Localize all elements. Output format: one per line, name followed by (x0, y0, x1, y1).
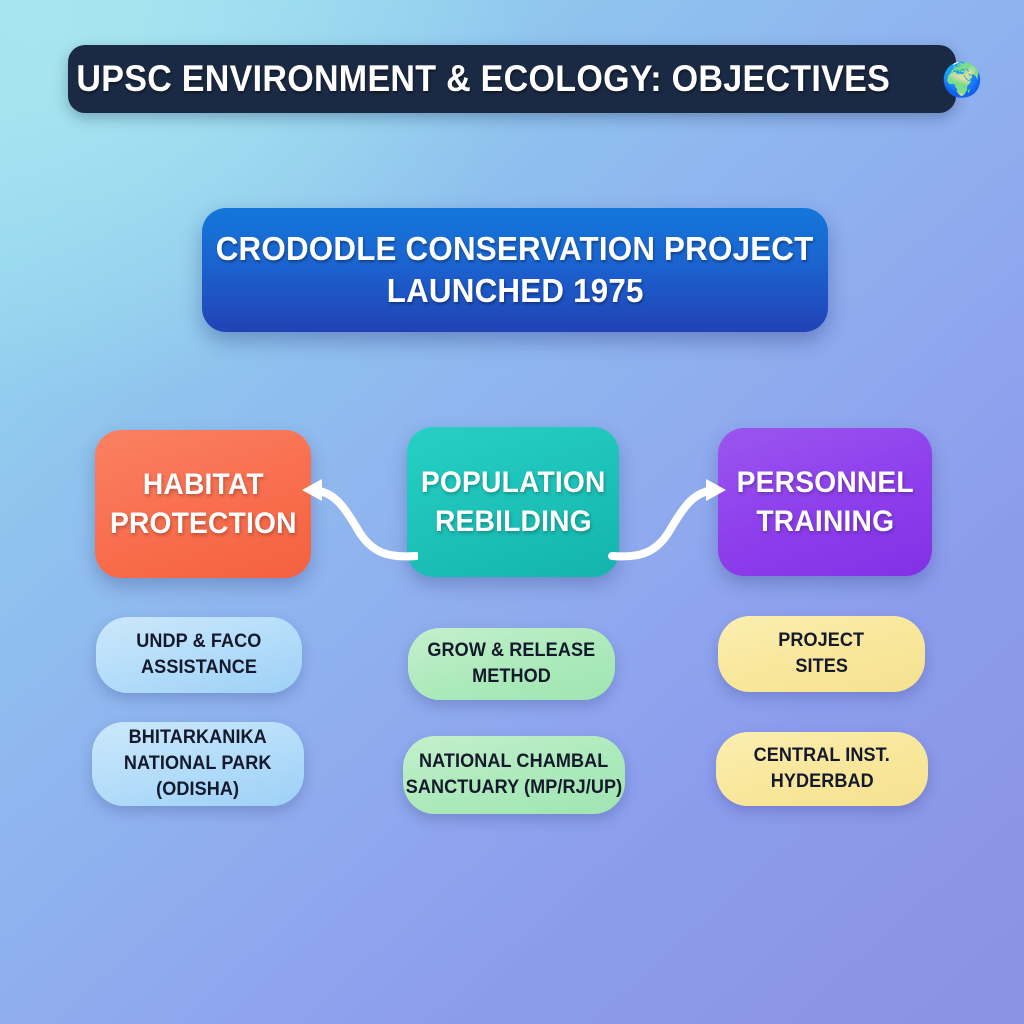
subitem-bhitarkanika-line-1: BHITARKANIKA (129, 725, 267, 751)
header-title: UPSC ENVIRONMENT & ECOLOGY: OBJECTIVES (77, 58, 891, 100)
subitem-grow-and-release-method[interactable]: GROW & RELEASE METHOD (408, 628, 615, 700)
pillar-habitat-label-line-2: PROTECTION (110, 504, 297, 543)
infographic-canvas: UPSC ENVIRONMENT & ECOLOGY: OBJECTIVES 🌍… (0, 0, 1024, 1024)
project-title-line-1: CRODODLE CONSERVATION PROJECT (216, 228, 814, 270)
pillar-population-label-line-2: REBILDING (435, 502, 592, 541)
connector-arrow-right (608, 468, 730, 564)
pillar-habitat-label-line-1: HABITAT (143, 465, 264, 504)
subitem-chambal-line-1: NATIONAL CHAMBAL (419, 749, 608, 775)
project-title-banner: CRODODLE CONSERVATION PROJECT LAUNCHED 1… (202, 208, 828, 332)
subitem-national-chambal-sanctuary[interactable]: NATIONAL CHAMBAL SANCTUARY (MP/RJ/UP) (403, 736, 625, 814)
subitem-bhitarkanika-line-3: (ODISHA) (156, 777, 239, 803)
pillar-box-personnel-training[interactable]: PERSONNEL TRAINING (718, 428, 932, 576)
subitem-grow-line-2: METHOD (472, 664, 551, 690)
pillar-box-habitat-protection[interactable]: HABITAT PROTECTION (95, 430, 311, 578)
subitem-project-sites-line-2: SITES (795, 654, 848, 680)
pillar-population-label-line-1: POPULATION (421, 463, 606, 502)
subitem-grow-line-1: GROW & RELEASE (428, 638, 596, 664)
subitem-central-institute-hyderabad[interactable]: CENTRAL INST. HYDERBAD (716, 732, 928, 806)
subitem-bhitarkanika-line-2: NATIONAL PARK (124, 751, 272, 777)
globe-icon: 🌍 (942, 63, 983, 96)
pillar-personnel-label-line-1: PERSONNEL (736, 463, 913, 502)
subitem-chambal-line-2: SANCTUARY (MP/RJ/UP) (406, 775, 623, 801)
subitem-bhitarkanika-national-park[interactable]: BHITARKANIKA NATIONAL PARK (ODISHA) (92, 722, 304, 806)
subitem-project-sites-line-1: PROJECT (779, 628, 865, 654)
subitem-project-sites[interactable]: PROJECT SITES (718, 616, 925, 692)
pillar-box-population-rebuilding[interactable]: POPULATION REBILDING (407, 427, 619, 577)
connector-arrow-left (298, 468, 418, 564)
header-banner: UPSC ENVIRONMENT & ECOLOGY: OBJECTIVES 🌍 (68, 45, 956, 113)
subitem-undp-line-1: UNDP & FACO (136, 629, 261, 655)
subitem-undp-fao-assistance[interactable]: UNDP & FACO ASSISTANCE (96, 617, 302, 693)
project-title-line-2: LAUNCHED 1975 (387, 270, 644, 312)
pillar-personnel-label-line-2: TRAINING (756, 502, 894, 541)
subitem-hyderabad-line-1: CENTRAL INST. (754, 743, 890, 769)
subitem-hyderabad-line-2: HYDERBAD (770, 769, 873, 795)
subitem-undp-line-2: ASSISTANCE (141, 655, 257, 681)
